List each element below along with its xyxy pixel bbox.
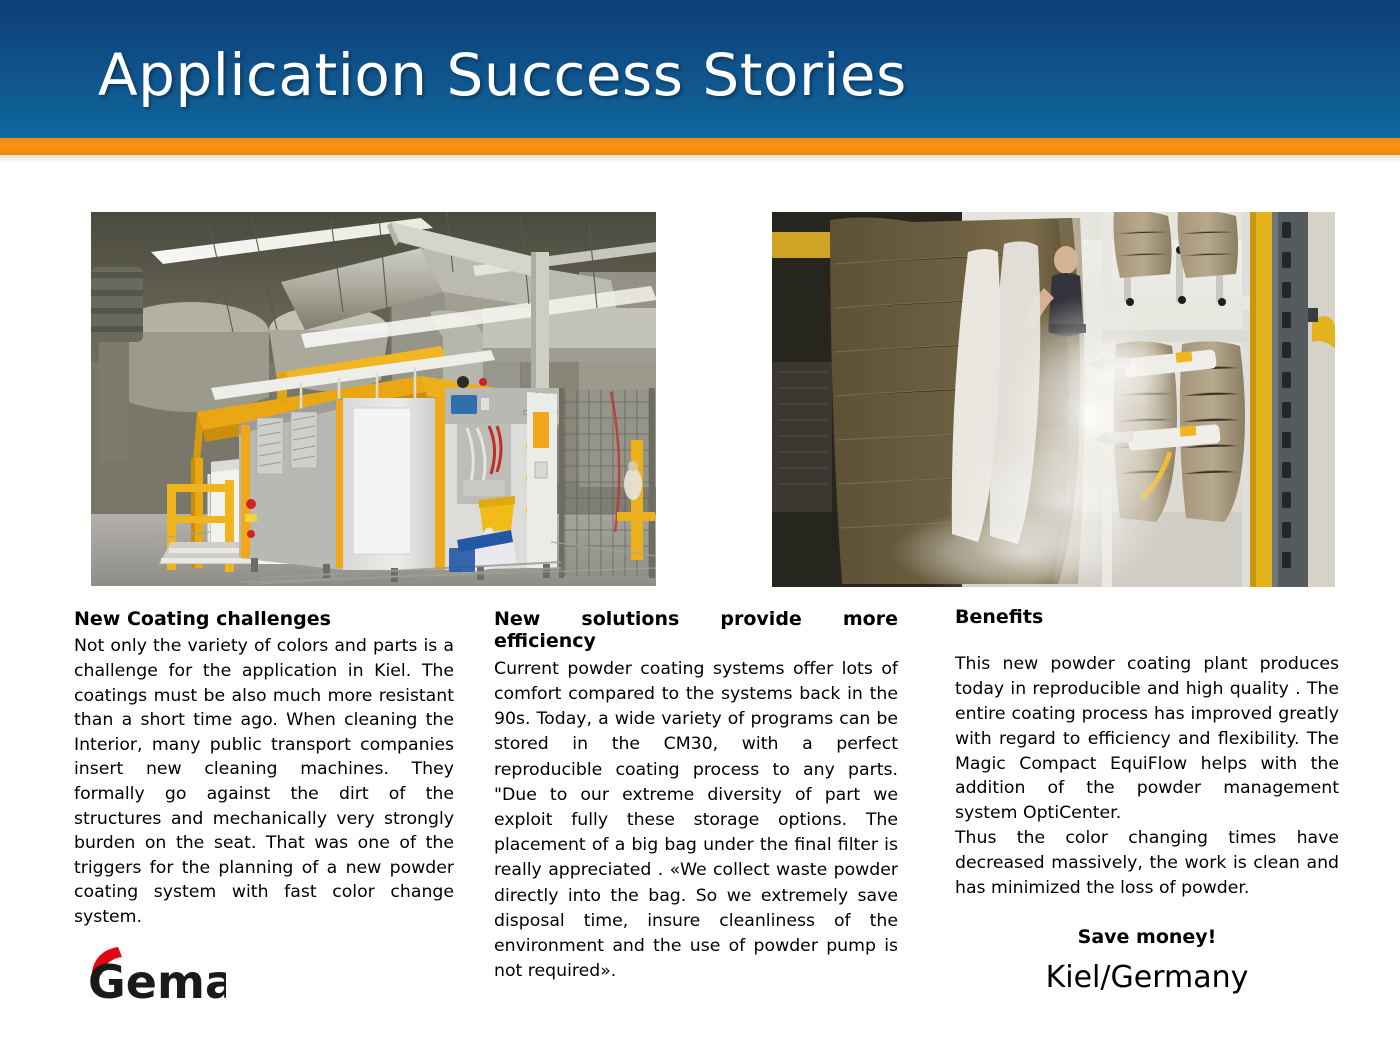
column-1-heading: New Coating challenges bbox=[74, 608, 454, 630]
header-stripe-shadow bbox=[0, 155, 1400, 162]
powder-spray-booth-photo bbox=[772, 212, 1335, 587]
page-title: Application Success Stories bbox=[98, 46, 907, 104]
slide-header-banner: Application Success Stories bbox=[0, 0, 1400, 138]
header-accent-stripe bbox=[0, 138, 1400, 155]
plant-photo-graphic: OptiCenter Gema bbox=[91, 212, 656, 586]
gema-logo-graphic: Gema bbox=[86, 946, 226, 1008]
spray-booth-photo-graphic bbox=[772, 212, 1335, 587]
column-3-paragraph-2: Thus the color changing times have decre… bbox=[955, 826, 1339, 900]
gema-logo-text: Gema bbox=[88, 955, 226, 1008]
powder-coating-plant-photo: OptiCenter Gema bbox=[91, 212, 656, 586]
location-label: Kiel/Germany bbox=[955, 960, 1339, 995]
column-3-body: This new powder coating plant produces t… bbox=[955, 652, 1339, 900]
save-money-callout: Save money! bbox=[955, 926, 1339, 948]
column-new-coating-challenges: New Coating challenges Not only the vari… bbox=[74, 608, 454, 930]
slide-root: Application Success Stories bbox=[0, 0, 1400, 1050]
column-1-body: Not only the variety of colors and parts… bbox=[74, 634, 454, 929]
column-3-heading-spacer bbox=[955, 632, 1339, 652]
column-benefits: Benefits This new powder coating plant p… bbox=[955, 606, 1339, 995]
column-3-paragraph-1: This new powder coating plant produces t… bbox=[955, 652, 1339, 826]
column-2-body: Current powder coating systems offer lot… bbox=[494, 657, 898, 985]
gema-logo: Gema bbox=[86, 946, 226, 1008]
column-1-paragraph-1: Not only the variety of colors and parts… bbox=[74, 634, 454, 929]
column-2-heading: New solutions provide more efficiency bbox=[494, 608, 898, 653]
column-3-heading: Benefits bbox=[955, 606, 1339, 628]
column-new-solutions-efficiency: New solutions provide more efficiency Cu… bbox=[494, 608, 898, 984]
column-2-paragraph-1: Current powder coating systems offer lot… bbox=[494, 657, 898, 985]
